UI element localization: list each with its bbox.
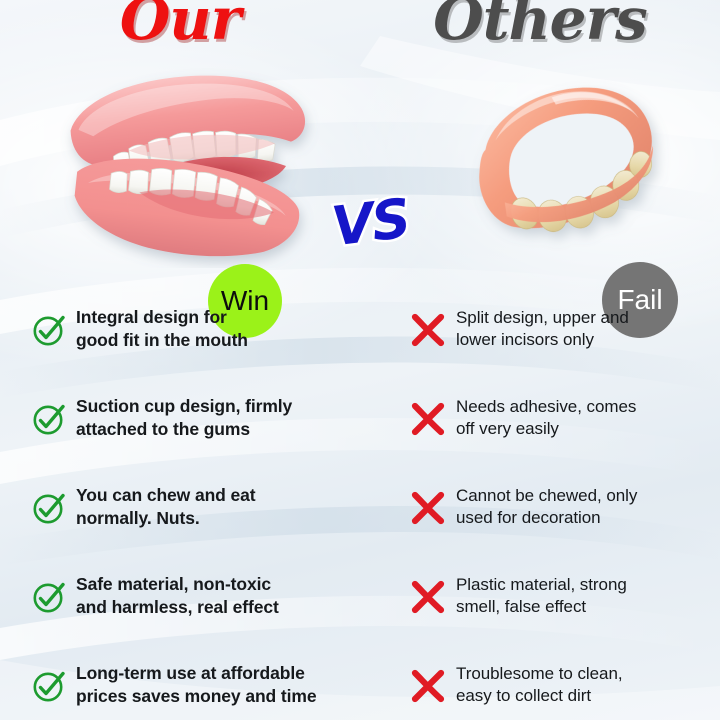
cross-mark-icon: [410, 580, 446, 614]
check-circle-icon: [32, 491, 66, 525]
feature-line: Safe material, non-toxic: [76, 573, 279, 596]
header-cell-others: Others: [360, 0, 720, 68]
feature-cell-our: Suction cup design, firmly attached to t…: [0, 373, 404, 463]
feature-line: easy to collect dirt: [456, 685, 623, 707]
feature-text-others: Split design, upper and lower incisors o…: [456, 307, 629, 352]
feature-text-others: Plastic material, strong smell, false ef…: [456, 574, 627, 619]
check-circle-icon: [32, 580, 66, 614]
feature-line: Suction cup design, firmly: [76, 395, 292, 418]
comparison-infographic: Our Others: [0, 0, 720, 720]
feature-line: lower incisors only: [456, 329, 629, 351]
feature-line: used for decoration: [456, 507, 637, 529]
feature-row: You can chew and eat normally. Nuts. Can…: [0, 462, 720, 552]
feature-row: Integral design for good fit in the mout…: [0, 284, 720, 374]
vs-label: VS: [329, 192, 412, 255]
feature-line: Troublesome to clean,: [456, 663, 623, 685]
feature-line: You can chew and eat: [76, 484, 256, 507]
feature-line: normally. Nuts.: [76, 507, 256, 530]
feature-cell-others: Cannot be chewed, only used for decorati…: [404, 462, 720, 552]
feature-line: Plastic material, strong: [456, 574, 627, 596]
cross-mark-icon: [410, 491, 446, 525]
cross-mark-icon: [410, 669, 446, 703]
feature-text-others: Cannot be chewed, only used for decorati…: [456, 485, 637, 530]
product-image-others-snap-on-veneer: [452, 72, 696, 258]
feature-line: prices saves money and time: [76, 685, 316, 708]
feature-line: good fit in the mouth: [76, 329, 248, 352]
feature-cell-others: Plastic material, strong smell, false ef…: [404, 551, 720, 641]
cross-mark-icon: [410, 402, 446, 436]
feature-line: attached to the gums: [76, 418, 292, 441]
feature-text-others: Troublesome to clean, easy to collect di…: [456, 663, 623, 708]
product-comparison-area: VS Win Fail: [0, 62, 720, 284]
feature-comparison-list: Integral design for good fit in the mout…: [0, 284, 720, 720]
header-cell-our: Our: [0, 0, 360, 68]
feature-line: and harmless, real effect: [76, 596, 279, 619]
feature-line: Integral design for: [76, 306, 248, 329]
feature-text-our: Safe material, non-toxic and harmless, r…: [76, 573, 279, 619]
product-image-our-full-denture: [42, 68, 342, 268]
feature-line: smell, false effect: [456, 596, 627, 618]
feature-text-our: Suction cup design, firmly attached to t…: [76, 395, 292, 441]
header-our: Our: [120, 0, 240, 49]
feature-text-our: You can chew and eat normally. Nuts.: [76, 484, 256, 530]
feature-cell-others: Needs adhesive, comes off very easily: [404, 373, 720, 463]
feature-cell-others: Troublesome to clean, easy to collect di…: [404, 640, 720, 720]
check-circle-icon: [32, 669, 66, 703]
cross-mark-icon: [410, 313, 446, 347]
feature-line: Long-term use at affordable: [76, 662, 316, 685]
feature-cell-our: Integral design for good fit in the mout…: [0, 284, 404, 374]
header-row: Our Others: [0, 0, 720, 68]
check-circle-icon: [32, 313, 66, 347]
feature-row: Safe material, non-toxic and harmless, r…: [0, 551, 720, 641]
feature-text-others: Needs adhesive, comes off very easily: [456, 396, 636, 441]
feature-row: Suction cup design, firmly attached to t…: [0, 373, 720, 463]
feature-cell-our: You can chew and eat normally. Nuts.: [0, 462, 404, 552]
feature-line: off very easily: [456, 418, 636, 440]
check-circle-icon: [32, 402, 66, 436]
feature-text-our: Long-term use at affordable prices saves…: [76, 662, 316, 708]
feature-row: Long-term use at affordable prices saves…: [0, 640, 720, 720]
feature-cell-our: Long-term use at affordable prices saves…: [0, 640, 404, 720]
feature-cell-our: Safe material, non-toxic and harmless, r…: [0, 551, 404, 641]
header-others: Others: [433, 0, 647, 49]
feature-line: Cannot be chewed, only: [456, 485, 637, 507]
feature-line: Split design, upper and: [456, 307, 629, 329]
feature-text-our: Integral design for good fit in the mout…: [76, 306, 248, 352]
feature-cell-others: Split design, upper and lower incisors o…: [404, 284, 720, 374]
feature-line: Needs adhesive, comes: [456, 396, 636, 418]
